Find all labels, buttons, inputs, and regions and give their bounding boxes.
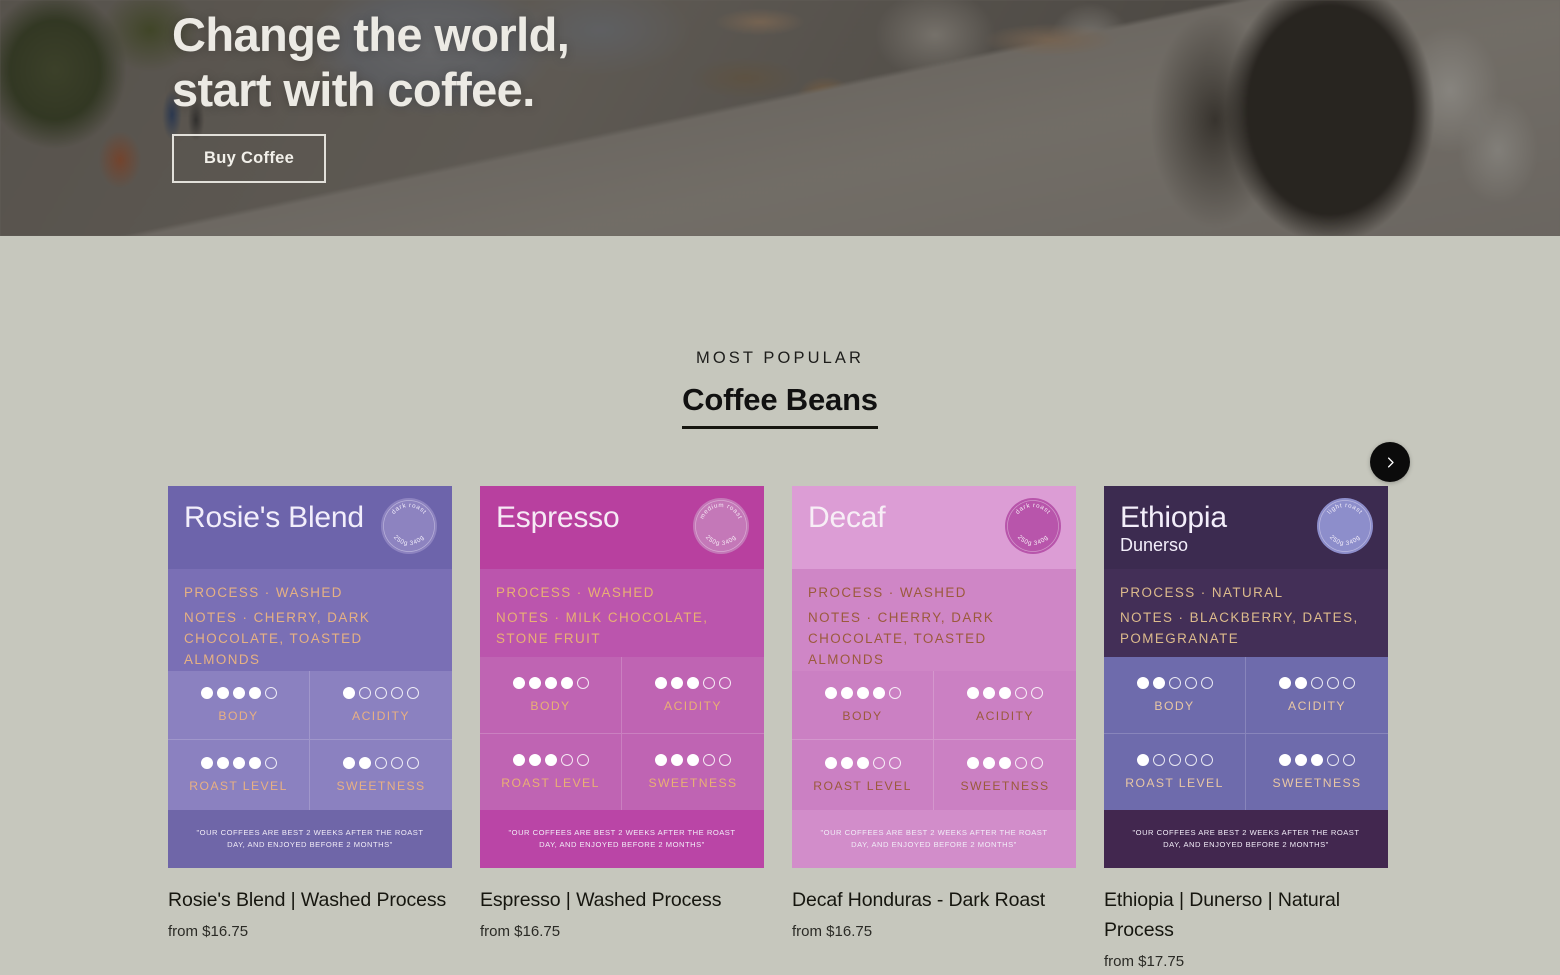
rating-dot	[1295, 677, 1307, 689]
rating-dot	[343, 757, 355, 769]
rating-dot	[201, 757, 213, 769]
rating-dot	[1201, 677, 1213, 689]
rating-dot	[577, 677, 589, 689]
bag-header: Decaf dark roast 250g 340g	[792, 486, 1076, 569]
metric-roast-level: ROAST LEVEL	[792, 740, 934, 810]
roast-badge: medium roast 250g 340g	[692, 497, 750, 555]
product-title[interactable]: Rosie's Blend | Washed Process	[168, 885, 452, 915]
rating-dot	[529, 754, 541, 766]
rating-dot	[655, 754, 667, 766]
metric-roast-level: ROAST LEVEL	[168, 740, 310, 810]
bag-metrics-grid: BODY ACIDITY ROAST LEVEL SWEETNESS	[792, 671, 1076, 810]
product-title[interactable]: Ethiopia | Dunerso | Natural Process	[1104, 885, 1388, 945]
rating-dot	[359, 757, 371, 769]
rating-dot	[1279, 754, 1291, 766]
product-bag-image[interactable]: ✦✦✦✦✦✦✦✦✦✦✦✦ Espresso medium roast 250g …	[480, 486, 764, 868]
bag-info: PROCESS · WASHED NOTES · MILK CHOCOLATE,…	[480, 569, 764, 657]
rating-dot	[967, 757, 979, 769]
bag-notes-line-1: NOTES · MILK CHOCOLATE,	[496, 608, 748, 629]
rating-dot	[889, 757, 901, 769]
rating-dot	[391, 757, 403, 769]
rating-dot	[265, 687, 277, 699]
metric-sweetness: SWEETNESS	[622, 734, 764, 811]
bag-header: Ethiopia Dunerso light roast 250g 340g	[1104, 486, 1388, 569]
bag-process-line: PROCESS · WASHED	[184, 583, 436, 604]
rating-dot	[1327, 677, 1339, 689]
rating-dot	[1153, 677, 1165, 689]
rating-dot	[359, 687, 371, 699]
rating-dot	[249, 687, 261, 699]
rating-dot	[391, 687, 403, 699]
rating-dot	[857, 757, 869, 769]
roast-level-rating-dots	[513, 754, 589, 766]
hero-banner: Change the world, start with coffee. Buy…	[0, 0, 1560, 236]
product-price: from $17.75	[1104, 953, 1388, 970]
bag-metrics-grid: BODY ACIDITY ROAST LEVEL SWEETNESS	[480, 657, 764, 810]
rating-dot	[999, 687, 1011, 699]
rating-dot	[1311, 677, 1323, 689]
rating-dot	[1153, 754, 1165, 766]
sweetness-rating-dots	[967, 757, 1043, 769]
metric-acidity: ACIDITY	[622, 657, 764, 734]
metric-acidity: ACIDITY	[310, 671, 452, 741]
sweetness-rating-dots	[343, 757, 419, 769]
bag-metrics-grid: BODY ACIDITY ROAST LEVEL SWEETNESS	[168, 671, 452, 810]
product-card[interactable]: ✦✦✦✦✦✦✦✦✦✦ Decaf dark roast 250g 340g	[792, 486, 1076, 970]
rating-dot	[513, 754, 525, 766]
bag-metrics-grid: BODY ACIDITY ROAST LEVEL SWEETNESS	[1104, 657, 1388, 810]
metric-label-sweetness: SWEETNESS	[1272, 776, 1361, 790]
rating-dot	[1343, 754, 1355, 766]
rating-dot	[1201, 754, 1213, 766]
rating-dot	[375, 757, 387, 769]
bag-info: PROCESS · NATURAL NOTES · BLACKBERRY, DA…	[1104, 569, 1388, 657]
metric-label-acidity: ACIDITY	[664, 699, 722, 713]
rating-dot	[343, 687, 355, 699]
rating-dot	[825, 757, 837, 769]
product-carousel: ✦✦✦✦✦✦✦✦✦✦✦✦✦✦ Rosie's Blend dark roast …	[0, 486, 1560, 970]
body-rating-dots	[1137, 677, 1213, 689]
rating-dot	[545, 677, 557, 689]
body-rating-dots	[825, 687, 901, 699]
product-bag-image[interactable]: ✦✦✦✦✦✦✦✦✦✦ Decaf dark roast 250g 340g	[792, 486, 1076, 868]
metric-roast-level: ROAST LEVEL	[1104, 734, 1246, 811]
metric-roast-level: ROAST LEVEL	[480, 734, 622, 811]
rating-dot	[671, 754, 683, 766]
rating-dot	[841, 757, 853, 769]
bag-footer: "OUR COFFEES ARE BEST 2 WEEKS AFTER THE …	[1104, 810, 1388, 868]
metric-label-sweetness: SWEETNESS	[960, 779, 1049, 793]
rating-dot	[1031, 757, 1043, 769]
rating-dot	[1295, 754, 1307, 766]
body-rating-dots	[513, 677, 589, 689]
rating-dot	[1031, 687, 1043, 699]
rating-dot	[873, 757, 885, 769]
rating-dot	[967, 687, 979, 699]
rating-dot	[1343, 677, 1355, 689]
metric-label-roast-level: ROAST LEVEL	[189, 779, 288, 793]
rating-dot	[1137, 754, 1149, 766]
metric-label-body: BODY	[530, 699, 570, 713]
metric-label-roast-level: ROAST LEVEL	[1125, 776, 1224, 790]
product-card[interactable]: ✦✦✦✦✦✦✦✦✦✦✦✦ Ethiopia Dunerso light roas…	[1104, 486, 1388, 970]
roast-badge: dark roast 250g 340g	[380, 497, 438, 555]
rating-dot	[1327, 754, 1339, 766]
rating-dot	[217, 757, 229, 769]
metric-body: BODY	[168, 671, 310, 741]
product-card[interactable]: ✦✦✦✦✦✦✦✦✦✦✦✦✦✦ Rosie's Blend dark roast …	[168, 486, 452, 970]
rating-dot	[217, 687, 229, 699]
rating-dot	[655, 677, 667, 689]
hero-title-line-2: start with coffee.	[172, 63, 1560, 118]
bag-notes-line-2: CHOCOLATE, TOASTED ALMONDS	[184, 629, 436, 671]
bag-notes-line-2: CHOCOLATE, TOASTED ALMONDS	[808, 629, 1060, 671]
rating-dot	[687, 677, 699, 689]
bag-process-line: PROCESS · NATURAL	[1120, 583, 1372, 604]
acidity-rating-dots	[655, 677, 731, 689]
metric-label-acidity: ACIDITY	[1288, 699, 1346, 713]
rating-dot	[249, 757, 261, 769]
rating-dot	[201, 687, 213, 699]
metric-sweetness: SWEETNESS	[934, 740, 1076, 810]
product-carousel-track: ✦✦✦✦✦✦✦✦✦✦✦✦✦✦ Rosie's Blend dark roast …	[168, 486, 1392, 970]
coffee-beans-section: MOST POPULAR Coffee Beans ✦✦✦✦✦✦✦✦✦✦✦✦✦✦…	[0, 236, 1560, 970]
rating-dot	[983, 687, 995, 699]
rating-dot	[1185, 677, 1197, 689]
rating-dot	[825, 687, 837, 699]
bag-header: Rosie's Blend dark roast 250g 340g	[168, 486, 452, 569]
rating-dot	[529, 677, 541, 689]
rating-dot	[1015, 757, 1027, 769]
roast-level-rating-dots	[201, 757, 277, 769]
bag-footer: "OUR COFFEES ARE BEST 2 WEEKS AFTER THE …	[480, 810, 764, 868]
rating-dot	[671, 677, 683, 689]
metric-label-roast-level: ROAST LEVEL	[813, 779, 912, 793]
product-bag-image[interactable]: ✦✦✦✦✦✦✦✦✦✦✦✦✦✦ Rosie's Blend dark roast …	[168, 486, 452, 868]
rating-dot	[561, 677, 573, 689]
rating-dot	[1169, 754, 1181, 766]
section-title: Coffee Beans	[682, 382, 878, 429]
rating-dot	[1169, 677, 1181, 689]
section-eyebrow: MOST POPULAR	[0, 349, 1560, 368]
metric-label-acidity: ACIDITY	[976, 709, 1034, 723]
hero-title: Change the world, start with coffee.	[172, 0, 1560, 117]
metric-label-roast-level: ROAST LEVEL	[501, 776, 600, 790]
rating-dot	[1015, 687, 1027, 699]
sweetness-rating-dots	[1279, 754, 1355, 766]
metric-label-body: BODY	[842, 709, 882, 723]
metric-sweetness: SWEETNESS	[1246, 734, 1388, 811]
bag-notes-line-1: NOTES · BLACKBERRY, DATES,	[1120, 608, 1372, 629]
rating-dot	[561, 754, 573, 766]
metric-acidity: ACIDITY	[934, 671, 1076, 741]
metric-label-sweetness: SWEETNESS	[648, 776, 737, 790]
rating-dot	[703, 754, 715, 766]
rating-dot	[1137, 677, 1149, 689]
carousel-next-button[interactable]	[1370, 442, 1410, 482]
metric-acidity: ACIDITY	[1246, 657, 1388, 734]
metric-label-sweetness: SWEETNESS	[336, 779, 425, 793]
roast-level-rating-dots	[1137, 754, 1213, 766]
acidity-rating-dots	[967, 687, 1043, 699]
rating-dot	[1185, 754, 1197, 766]
metric-sweetness: SWEETNESS	[310, 740, 452, 810]
rating-dot	[889, 687, 901, 699]
bag-footer: "OUR COFFEES ARE BEST 2 WEEKS AFTER THE …	[168, 810, 452, 868]
metric-body: BODY	[480, 657, 622, 734]
rating-dot	[407, 687, 419, 699]
freshness-note: "OUR COFFEES ARE BEST 2 WEEKS AFTER THE …	[502, 827, 742, 852]
rating-dot	[545, 754, 557, 766]
product-price: from $16.75	[480, 923, 764, 940]
bag-header: Espresso medium roast 250g 340g	[480, 486, 764, 569]
rating-dot	[577, 754, 589, 766]
rating-dot	[375, 687, 387, 699]
rating-dot	[265, 757, 277, 769]
rating-dot	[983, 757, 995, 769]
product-card[interactable]: ✦✦✦✦✦✦✦✦✦✦✦✦ Espresso medium roast 250g …	[480, 486, 764, 970]
metric-label-body: BODY	[1154, 699, 1194, 713]
metric-label-body: BODY	[218, 709, 258, 723]
roast-badge: dark roast 250g 340g	[1004, 497, 1062, 555]
bag-notes-line-1: NOTES · CHERRY, DARK	[184, 608, 436, 629]
bag-notes-line-1: NOTES · CHERRY, DARK	[808, 608, 1060, 629]
bag-notes-line-2: STONE FRUIT	[496, 629, 748, 650]
metric-label-acidity: ACIDITY	[352, 709, 410, 723]
rating-dot	[513, 677, 525, 689]
product-price: from $16.75	[792, 923, 1076, 940]
metric-body: BODY	[792, 671, 934, 741]
bag-process-line: PROCESS · WASHED	[496, 583, 748, 604]
bag-process-line: PROCESS · WASHED	[808, 583, 1060, 604]
product-title[interactable]: Decaf Honduras - Dark Roast	[792, 885, 1076, 915]
bag-info: PROCESS · WASHED NOTES · CHERRY, DARK CH…	[792, 569, 1076, 671]
rating-dot	[719, 754, 731, 766]
rating-dot	[873, 687, 885, 699]
buy-coffee-button[interactable]: Buy Coffee	[172, 134, 326, 183]
rating-dot	[687, 754, 699, 766]
bag-notes-line-2: POMEGRANATE	[1120, 629, 1372, 650]
rating-dot	[1279, 677, 1291, 689]
freshness-note: "OUR COFFEES ARE BEST 2 WEEKS AFTER THE …	[190, 827, 430, 852]
rating-dot	[703, 677, 715, 689]
sweetness-rating-dots	[655, 754, 731, 766]
product-title[interactable]: Espresso | Washed Process	[480, 885, 764, 915]
rating-dot	[841, 687, 853, 699]
rating-dot	[233, 687, 245, 699]
freshness-note: "OUR COFFEES ARE BEST 2 WEEKS AFTER THE …	[814, 827, 1054, 852]
hero-title-line-1: Change the world,	[172, 8, 569, 61]
bag-footer: "OUR COFFEES ARE BEST 2 WEEKS AFTER THE …	[792, 810, 1076, 868]
bag-info: PROCESS · WASHED NOTES · CHERRY, DARK CH…	[168, 569, 452, 671]
chevron-right-icon	[1383, 455, 1398, 470]
rating-dot	[999, 757, 1011, 769]
rating-dot	[719, 677, 731, 689]
product-bag-image[interactable]: ✦✦✦✦✦✦✦✦✦✦✦✦ Ethiopia Dunerso light roas…	[1104, 486, 1388, 868]
rating-dot	[233, 757, 245, 769]
acidity-rating-dots	[1279, 677, 1355, 689]
body-rating-dots	[201, 687, 277, 699]
freshness-note: "OUR COFFEES ARE BEST 2 WEEKS AFTER THE …	[1126, 827, 1366, 852]
acidity-rating-dots	[343, 687, 419, 699]
rating-dot	[857, 687, 869, 699]
rating-dot	[407, 757, 419, 769]
metric-body: BODY	[1104, 657, 1246, 734]
roast-badge: light roast 250g 340g	[1316, 497, 1374, 555]
rating-dot	[1311, 754, 1323, 766]
roast-level-rating-dots	[825, 757, 901, 769]
product-price: from $16.75	[168, 923, 452, 940]
